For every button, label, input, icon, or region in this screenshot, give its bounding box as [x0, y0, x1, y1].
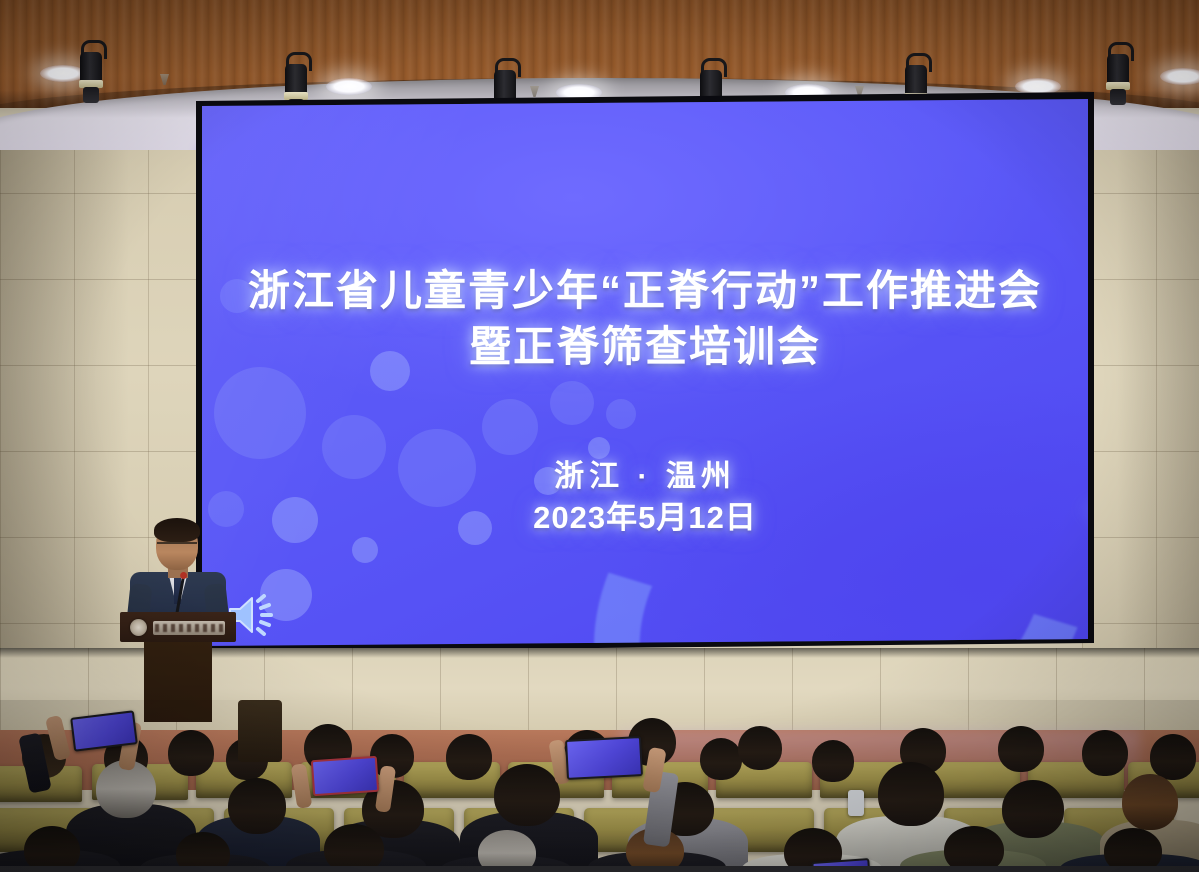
- audience-head: [738, 726, 782, 770]
- screen-subtitle-block: 浙江 · 温州 2023年5月12日: [202, 457, 1088, 539]
- led-screen[interactable]: 浙江省儿童青少年“正脊行动”工作推进会 暨正脊筛查培训会 浙江 · 温州 202…: [202, 99, 1088, 646]
- audience-head: [998, 726, 1044, 772]
- decorative-bubble: [352, 537, 378, 563]
- bottom-edge-bar: [0, 866, 1199, 872]
- stage-spotlight: [1105, 42, 1131, 108]
- institution-emblem: [130, 619, 147, 636]
- screen-title-block: 浙江省儿童青少年“正脊行动”工作推进会 暨正脊筛查培训会: [202, 263, 1088, 375]
- audience-head: [446, 734, 492, 780]
- audience-head: [1150, 734, 1196, 780]
- screen-title-line2: 暨正脊筛查培训会: [202, 319, 1088, 375]
- decorative-bubble: [550, 381, 594, 425]
- audience-head: [812, 740, 854, 782]
- seat-divider: [238, 700, 282, 762]
- audience-head: [228, 778, 286, 834]
- screen-title-line1: 浙江省儿童青少年“正脊行动”工作推进会: [202, 263, 1088, 319]
- audience-area: [0, 700, 1199, 872]
- smartphone-camera[interactable]: [565, 736, 643, 780]
- right-wall-shadow: [1082, 150, 1199, 710]
- decorative-bubble: [214, 367, 306, 459]
- screen-subtitle-place: 浙江 · 温州: [202, 457, 1088, 497]
- audience-head: [324, 824, 384, 872]
- ceiling-downlight: [326, 78, 372, 95]
- audience-head: [700, 738, 742, 780]
- audience-head: [1122, 774, 1178, 830]
- screen-content: 浙江省儿童青少年“正脊行动”工作推进会 暨正脊筛查培训会 浙江 · 温州 202…: [202, 99, 1088, 646]
- audience-head: [168, 730, 214, 776]
- audience-head: [1082, 730, 1128, 776]
- podium-top: [120, 612, 236, 642]
- audience-head: [494, 764, 560, 826]
- decorative-bubble: [482, 399, 538, 455]
- conference-hall-photo: 浙江省儿童青少年“正脊行动”工作推进会 暨正脊筛查培训会 浙江 · 温州 202…: [0, 0, 1199, 872]
- smartphone-camera[interactable]: [311, 756, 379, 797]
- audience-head: [878, 762, 944, 826]
- audience-head: [1002, 780, 1064, 838]
- ceiling-downlight: [1160, 68, 1199, 85]
- speaker-glasses: [157, 542, 197, 552]
- podium-nameplate: [153, 621, 225, 635]
- smartphone-camera[interactable]: [848, 790, 864, 816]
- stage-spotlight: [78, 40, 104, 106]
- speaker-hair: [154, 518, 200, 542]
- screen-subtitle-date: 2023年5月12日: [202, 497, 1088, 539]
